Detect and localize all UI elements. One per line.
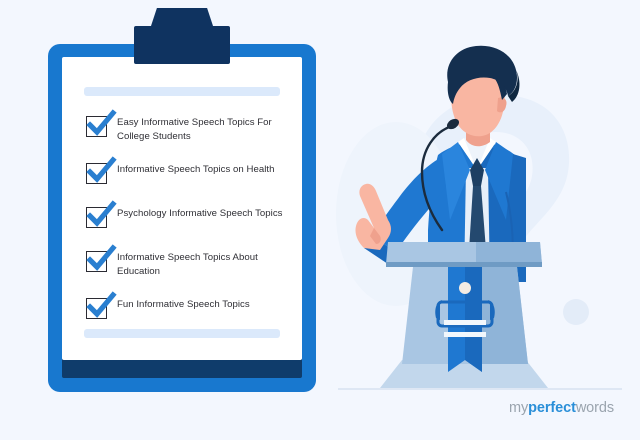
- list-item[interactable]: Informative Speech Topics About Educatio…: [86, 250, 286, 279]
- brand-logo: myperfectwords: [509, 400, 614, 416]
- checkmark-icon: [86, 293, 116, 321]
- list-item[interactable]: Fun Informative Speech Topics: [86, 297, 286, 323]
- checkmark-icon: [86, 202, 116, 230]
- banner-stripe-2: [444, 332, 486, 337]
- list-item-label: Easy Informative Speech Topics For Colle…: [117, 115, 286, 144]
- checkmark-icon: [86, 111, 116, 139]
- clipboard-paper: Easy Informative Speech Topics For Colle…: [62, 57, 302, 360]
- checkbox-icon[interactable]: [86, 207, 107, 228]
- clipboard: Easy Informative Speech Topics For Colle…: [48, 44, 316, 392]
- list-item-label: Psychology Informative Speech Topics: [117, 206, 283, 221]
- list-item-label: Informative Speech Topics on Health: [117, 162, 274, 177]
- checkmark-icon: [86, 246, 116, 274]
- checkbox-icon[interactable]: [86, 298, 107, 319]
- checklist: Easy Informative Speech Topics For Colle…: [86, 115, 286, 341]
- banner-stripe-1: [444, 320, 486, 325]
- banner-emblem-icon: [459, 282, 471, 294]
- list-item[interactable]: Easy Informative Speech Topics For Colle…: [86, 115, 286, 144]
- screenshot-canvas: Easy Informative Speech Topics For Colle…: [0, 0, 640, 440]
- checkbox-icon[interactable]: [86, 251, 107, 272]
- podium-edge: [386, 262, 542, 267]
- checkbox-icon[interactable]: [86, 163, 107, 184]
- logo-part-my: my: [509, 400, 528, 416]
- checkbox-icon[interactable]: [86, 116, 107, 137]
- podium-top-shade: [476, 242, 542, 264]
- clipboard-clip-base: [134, 26, 230, 64]
- list-item-label: Informative Speech Topics About Educatio…: [117, 250, 286, 279]
- placeholder-bar-top: [84, 87, 280, 96]
- logo-part-words: words: [576, 400, 614, 416]
- list-item[interactable]: Psychology Informative Speech Topics: [86, 206, 286, 232]
- speaker-illustration: [330, 20, 630, 400]
- list-item-label: Fun Informative Speech Topics: [117, 297, 250, 312]
- podium-base: [380, 360, 548, 388]
- speaker-ear: [497, 97, 507, 112]
- checkmark-icon: [86, 158, 116, 186]
- clipboard-bottom-strip: [62, 358, 302, 378]
- list-item[interactable]: Informative Speech Topics on Health: [86, 162, 286, 188]
- logo-part-perfect: perfect: [528, 400, 576, 416]
